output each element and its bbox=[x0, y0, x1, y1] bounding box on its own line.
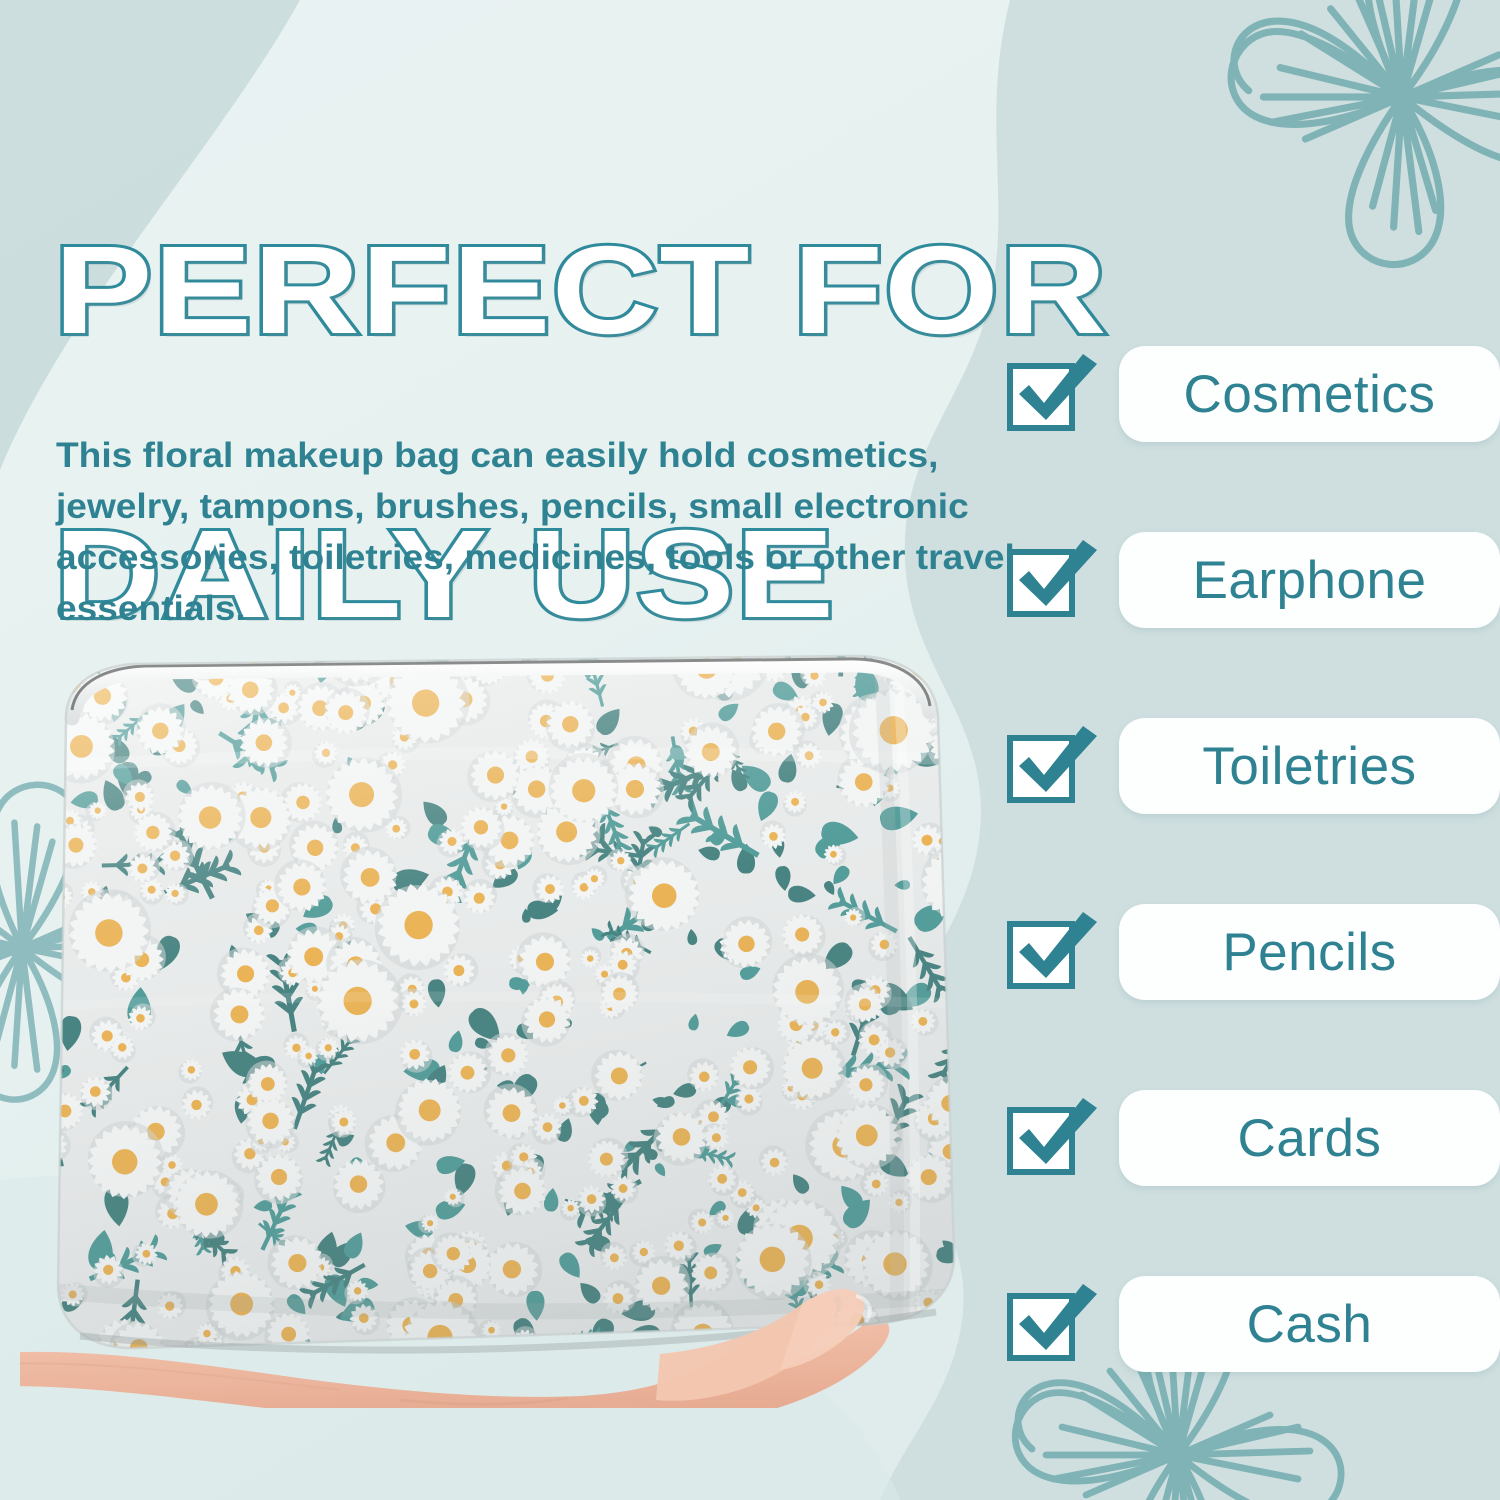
infographic-canvas: PERFECT FOR DAILY USE This floral makeup… bbox=[0, 0, 1500, 1500]
checked-checkbox-icon[interactable] bbox=[1005, 722, 1101, 810]
feature-pill[interactable]: Cards bbox=[1119, 1090, 1500, 1186]
list-item[interactable]: Cards bbox=[1005, 1090, 1500, 1186]
feature-pill[interactable]: Cosmetics bbox=[1119, 346, 1500, 442]
checked-checkbox-icon[interactable] bbox=[1005, 1280, 1101, 1368]
list-item-label: Pencils bbox=[1222, 926, 1396, 979]
feature-pill[interactable]: Toiletries bbox=[1119, 718, 1500, 814]
feature-pill[interactable]: Earphone bbox=[1119, 532, 1500, 628]
product-photo bbox=[20, 648, 980, 1408]
list-item[interactable]: Cash bbox=[1005, 1276, 1500, 1372]
list-item-label: Cosmetics bbox=[1184, 368, 1436, 421]
checked-checkbox-icon[interactable] bbox=[1005, 536, 1101, 624]
title-line-1: PERFECT FOR bbox=[54, 220, 1234, 362]
feature-pill[interactable]: Pencils bbox=[1119, 904, 1500, 1000]
list-item-label: Cash bbox=[1247, 1298, 1373, 1351]
checked-checkbox-icon[interactable] bbox=[1005, 908, 1101, 996]
list-item-label: Earphone bbox=[1193, 554, 1427, 607]
checked-checkbox-icon[interactable] bbox=[1005, 350, 1101, 438]
checked-checkbox-icon[interactable] bbox=[1005, 1094, 1101, 1182]
hibiscus-outline-icon bbox=[1192, 0, 1500, 312]
list-item-label: Toiletries bbox=[1202, 740, 1416, 793]
list-item[interactable]: Pencils bbox=[1005, 904, 1500, 1000]
list-item-label: Cards bbox=[1238, 1112, 1382, 1165]
description-paragraph: This floral makeup bag can easily hold c… bbox=[56, 430, 1052, 634]
list-item[interactable]: Toiletries bbox=[1005, 718, 1500, 814]
feature-pill[interactable]: Cash bbox=[1119, 1276, 1500, 1372]
list-item[interactable]: Earphone bbox=[1005, 532, 1500, 628]
feature-checklist: Cosmetics Earphone Toiletr bbox=[1005, 346, 1500, 1372]
list-item[interactable]: Cosmetics bbox=[1005, 346, 1500, 442]
